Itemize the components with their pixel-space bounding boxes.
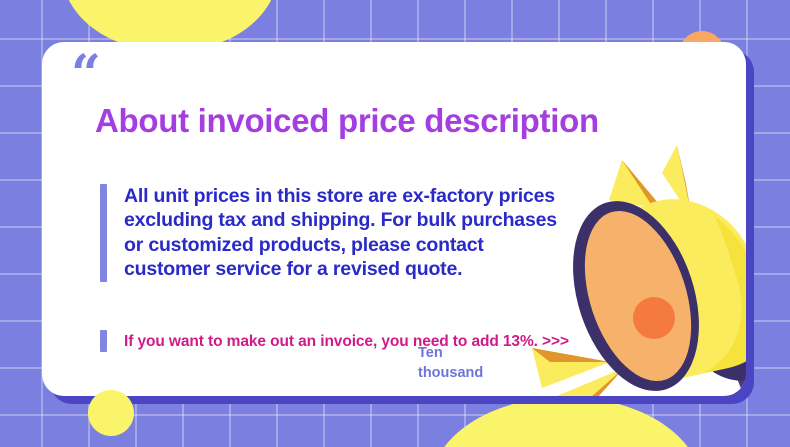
megaphone-horn [602, 199, 746, 381]
ten-thousand-label: Ten thousand [418, 344, 508, 383]
megaphone-handle [720, 318, 746, 396]
content-card: “ About invoiced price description All u… [42, 42, 746, 396]
sound-burst-upper-icon [609, 145, 692, 218]
body-paragraph-block: All unit prices in this store are ex-fac… [100, 184, 560, 282]
body-paragraph-text: All unit prices in this store are ex-fac… [124, 184, 560, 282]
sound-burst-lower-icon [532, 348, 624, 396]
quote-icon: “ [71, 49, 99, 101]
megaphone-bell-dot [633, 297, 675, 339]
megaphone-body [686, 251, 746, 380]
footer-note-block: If you want to make out an invoice, you … [100, 330, 580, 352]
slide-canvas: “ About invoiced price description All u… [0, 0, 790, 447]
megaphone-bell [551, 185, 722, 396]
body-accent-bar [100, 184, 107, 282]
decorative-circle-yellow-bottom-left [88, 390, 134, 436]
footer-accent-bar [100, 330, 107, 352]
page-title: About invoiced price description [95, 102, 599, 140]
